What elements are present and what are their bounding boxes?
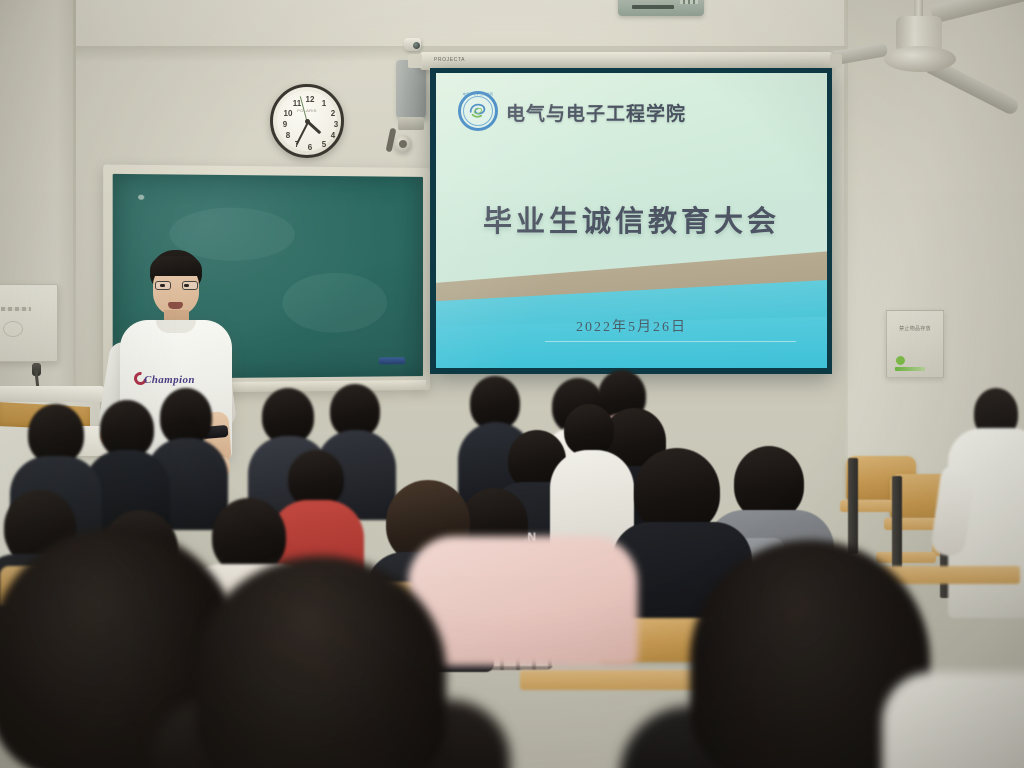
camera-lens <box>413 42 420 49</box>
slide-underline-rule <box>545 341 795 342</box>
presenter-fringe <box>150 256 202 276</box>
clock-numeral: 8 <box>282 132 294 140</box>
wall-cabinet <box>0 284 58 362</box>
clock-numeral: 12 <box>304 96 316 104</box>
ceiling-ac-vent <box>618 0 704 16</box>
presenter-eye <box>160 284 165 287</box>
wall-notice-sign: 禁止物品存放 <box>886 310 944 378</box>
fan-blade <box>930 0 1024 24</box>
fan-hub <box>884 46 956 72</box>
slide-main-title: 毕业生诚信教育大会 <box>436 198 827 240</box>
clock-face: POLARIS 12 1 2 3 4 5 6 7 8 9 10 11 <box>277 91 337 151</box>
slide-canvas: 电气与电子工程学院 电气与电子工程学院 毕业生诚信教育大会 2022年5月26日 <box>436 73 827 368</box>
speaker-mount <box>398 117 424 130</box>
presenter-eye <box>184 284 189 287</box>
chalk-piece <box>138 195 144 200</box>
screen-brand-label: PROJECTA <box>434 57 465 63</box>
security-camera-icon <box>404 38 421 51</box>
student-head <box>734 446 804 520</box>
screen-bracket <box>408 54 422 68</box>
slide-date: 2022年5月26日 <box>436 316 827 336</box>
screen-bracket <box>830 54 842 68</box>
projection-screen: 电气与电子工程学院 电气与电子工程学院 毕业生诚信教育大会 2022年5月26日 <box>430 68 832 374</box>
presenter-mouth <box>168 302 183 309</box>
clock-numeral: 2 <box>327 110 339 118</box>
student-head <box>564 404 614 456</box>
cabinet-dial <box>3 321 23 337</box>
student-foreground-shirt <box>882 672 1024 768</box>
wall-outlet-knob <box>394 135 412 153</box>
clock-numeral: 4 <box>327 132 339 140</box>
slide-organization-title: 电气与电子工程学院 <box>506 99 686 126</box>
student-head <box>212 498 286 574</box>
clock-numeral: 1 <box>318 100 330 108</box>
emblem-arc-text: 电气与电子工程学院 <box>462 92 494 102</box>
clock-numeral: 3 <box>330 121 342 129</box>
recycle-leaf-icon <box>896 356 905 365</box>
emblem-swirl <box>467 100 489 122</box>
student-head <box>28 404 84 464</box>
classroom-photo: POLARIS 12 1 2 3 4 5 6 7 8 9 10 11 <box>0 0 1024 768</box>
wall-clock: POLARIS 12 1 2 3 4 5 6 7 8 9 10 11 <box>270 84 344 158</box>
clock-numeral: 10 <box>282 110 294 118</box>
wall-sign-text: 禁止物品存放 <box>887 325 943 332</box>
blackboard-eraser <box>379 357 405 364</box>
knob-core <box>399 140 407 148</box>
clock-numeral: 5 <box>318 141 330 149</box>
vent-indicator-lights <box>680 0 698 4</box>
clock-brand-label: POLARIS <box>297 108 316 113</box>
clock-numeral: 6 <box>304 144 316 152</box>
clock-numeral: 9 <box>279 121 291 129</box>
ceiling-fan-icon <box>828 0 1018 90</box>
vent-slots <box>632 5 674 9</box>
clock-center-pin <box>305 119 310 124</box>
school-emblem-icon: 电气与电子工程学院 <box>458 91 498 131</box>
chalk-smudge <box>283 272 387 333</box>
cabinet-label-strip <box>1 307 31 311</box>
